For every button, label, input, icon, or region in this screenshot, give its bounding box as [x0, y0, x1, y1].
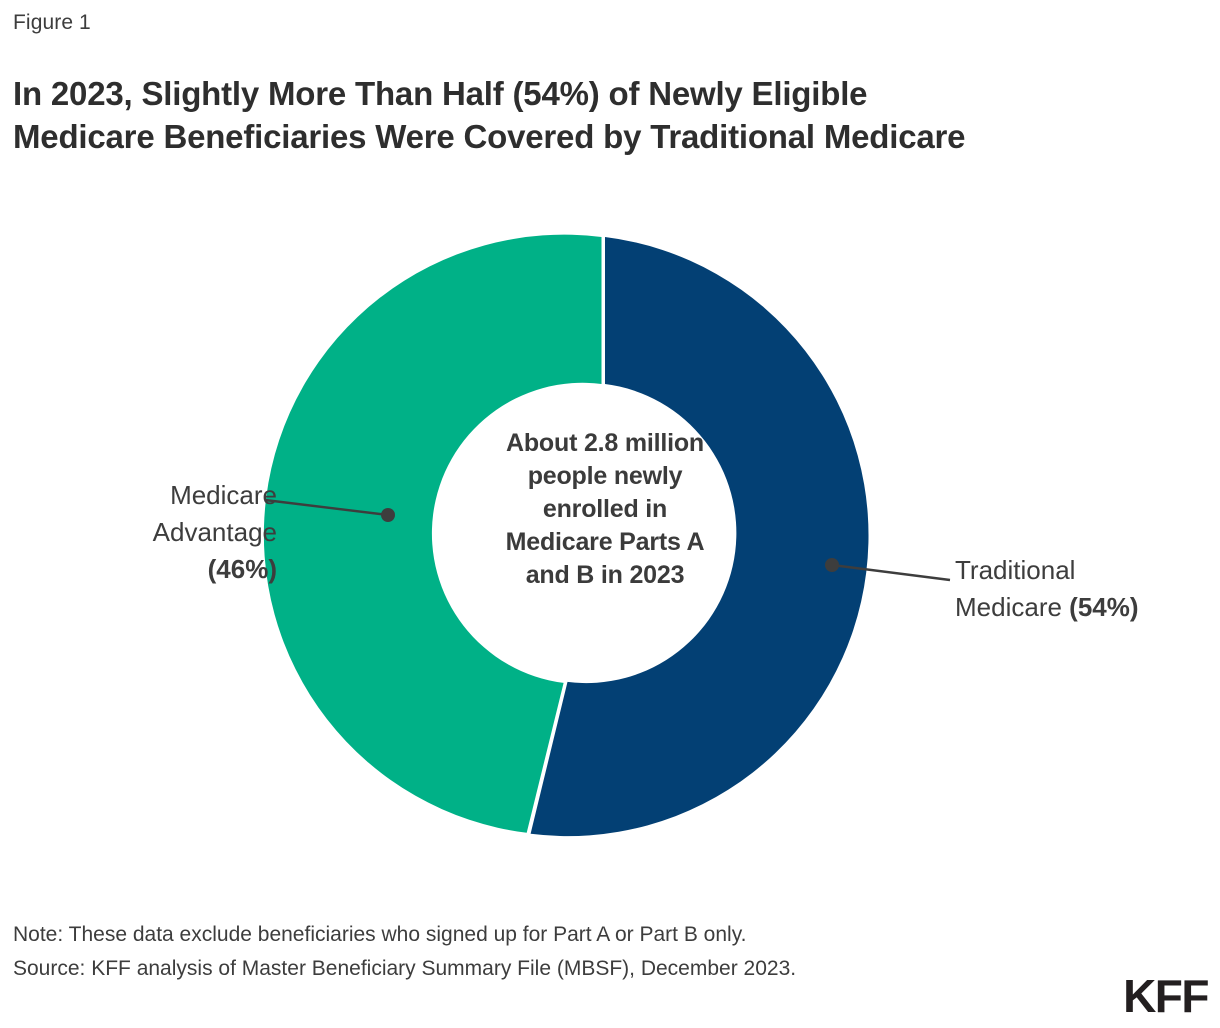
center-annotation-line-2: people newly: [460, 460, 750, 493]
leader-dot-traditional-medicare: [825, 558, 839, 572]
callout-label-medicare-advantage: Medicare Advantage (46%): [0, 477, 277, 588]
center-annotation-line-3: enrolled in: [460, 493, 750, 526]
footnote-note: Note: These data exclude beneficiaries w…: [13, 918, 1013, 952]
figure-label: Figure 1: [13, 11, 91, 35]
callout-left-line-1: Medicare: [0, 477, 277, 514]
chart-footnotes: Note: These data exclude beneficiaries w…: [13, 918, 1013, 986]
center-annotation-line-5: and B in 2023: [460, 559, 750, 592]
callout-left-percent-value: (46%): [208, 554, 277, 584]
donut-chart-plot-area: About 2.8 million people newly enrolled …: [0, 190, 1220, 900]
callout-right-line-2: Medicare (54%): [955, 589, 1220, 626]
callout-left-line-2: Advantage: [0, 514, 277, 551]
callout-left-percent: (46%): [0, 551, 277, 588]
center-annotation-line-4: Medicare Parts A: [460, 526, 750, 559]
callout-right-percent-value: (54%): [1069, 592, 1138, 622]
chart-title-line-2: Medicare Beneficiaries Were Covered by T…: [13, 115, 1208, 158]
donut-center-annotation: About 2.8 million people newly enrolled …: [460, 427, 750, 592]
footnote-source: Source: KFF analysis of Master Beneficia…: [13, 952, 1013, 986]
chart-title-line-1: In 2023, Slightly More Than Half (54%) o…: [13, 72, 1208, 115]
callout-right-line-1: Traditional: [955, 552, 1220, 589]
chart-title: In 2023, Slightly More Than Half (54%) o…: [13, 72, 1208, 158]
callout-right-line-2-prefix: Medicare: [955, 592, 1069, 622]
leader-dot-medicare-advantage: [381, 508, 395, 522]
callout-label-traditional-medicare: Traditional Medicare (54%): [955, 552, 1220, 626]
center-annotation-line-1: About 2.8 million: [460, 427, 750, 460]
kff-logo: KFF: [1123, 973, 1208, 1019]
